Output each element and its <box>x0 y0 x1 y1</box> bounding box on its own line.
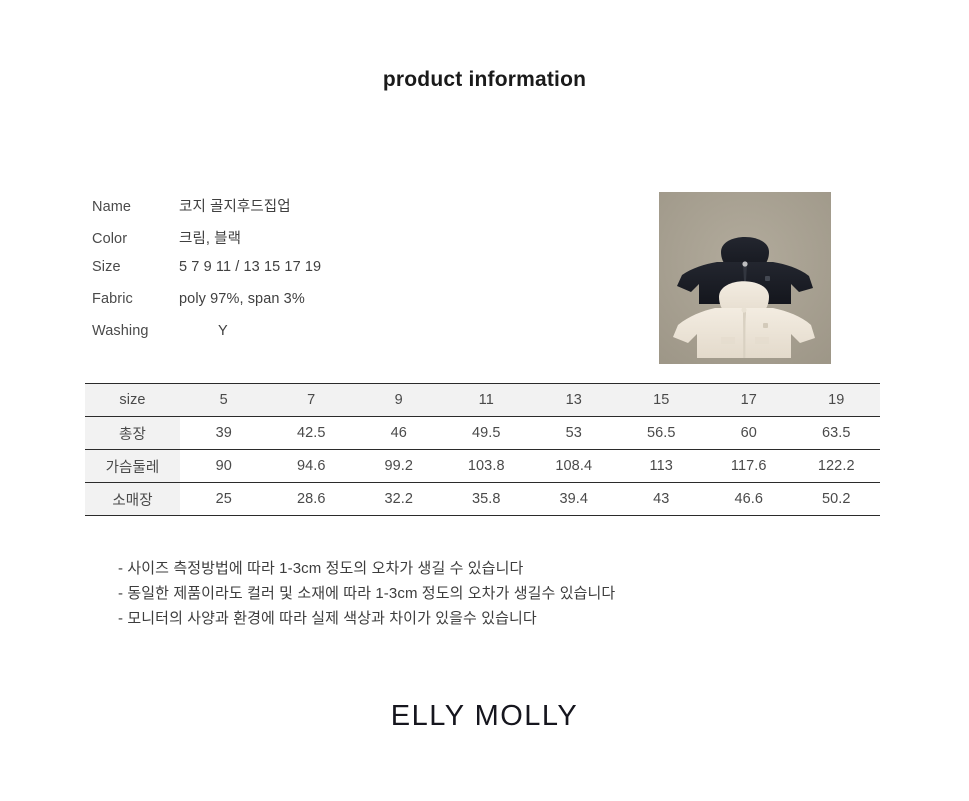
table-cell: 103.8 <box>443 450 531 483</box>
spec-row-color: Color 크림, 블랙 <box>92 227 512 259</box>
table-cell: 50.2 <box>793 483 881 516</box>
table-cell: 90 <box>180 450 268 483</box>
table-cell: 32.2 <box>355 483 443 516</box>
product-spec-list: Name 코지 골지후드집업 Color 크림, 블랙 Size 5 7 9 1… <box>92 195 512 355</box>
page-title: product information <box>0 68 969 92</box>
table-row-label: 총장 <box>85 417 180 450</box>
table-header-cell: 11 <box>443 384 531 417</box>
product-photo <box>659 192 831 364</box>
notes-list: - 사이즈 측정방법에 따라 1-3cm 정도의 오차가 생길 수 있습니다 -… <box>118 556 858 631</box>
table-cell: 39 <box>180 417 268 450</box>
spec-value-color: 크림, 블랙 <box>179 227 241 248</box>
note-line: - 사이즈 측정방법에 따라 1-3cm 정도의 오차가 생길 수 있습니다 <box>118 556 858 581</box>
table-cell: 53 <box>530 417 618 450</box>
table-cell: 43 <box>618 483 706 516</box>
table-header-cell: 19 <box>793 384 881 417</box>
spec-value-size: 5 7 9 11 / 13 15 17 19 <box>179 259 321 275</box>
table-row: 가슴둘레 90 94.6 99.2 103.8 108.4 113 117.6 … <box>85 450 880 483</box>
table-header-cell: 17 <box>705 384 793 417</box>
spec-value-name: 코지 골지후드집업 <box>179 195 291 216</box>
spec-row-name: Name 코지 골지후드집업 <box>92 195 512 227</box>
table-cell: 56.5 <box>618 417 706 450</box>
note-line: - 동일한 제품이라도 컬러 및 소재에 따라 1-3cm 정도의 오차가 생길… <box>118 581 858 606</box>
table-cell: 60 <box>705 417 793 450</box>
table-cell: 46 <box>355 417 443 450</box>
spec-row-fabric: Fabric poly 97%, span 3% <box>92 291 512 323</box>
table-cell: 35.8 <box>443 483 531 516</box>
table-header-cell: 13 <box>530 384 618 417</box>
spec-label-size: Size <box>92 259 179 275</box>
spec-value-fabric: poly 97%, span 3% <box>179 291 305 307</box>
table-header-cell: 9 <box>355 384 443 417</box>
table-cell: 117.6 <box>705 450 793 483</box>
table-header-cell: 15 <box>618 384 706 417</box>
table-cell: 49.5 <box>443 417 531 450</box>
product-photo-illustration <box>659 192 831 364</box>
table-cell: 25 <box>180 483 268 516</box>
size-table-container: size 5 7 9 11 13 15 17 19 총장 39 42.5 46 … <box>85 383 880 516</box>
table-cell: 113 <box>618 450 706 483</box>
brand-name: ELLY MOLLY <box>0 700 969 733</box>
table-header-row: size 5 7 9 11 13 15 17 19 <box>85 384 880 417</box>
spec-label-fabric: Fabric <box>92 291 179 307</box>
table-cell: 94.6 <box>268 450 356 483</box>
spec-label-color: Color <box>92 231 179 247</box>
spec-value-washing: Y <box>179 323 228 339</box>
table-row-label: 가슴둘레 <box>85 450 180 483</box>
table-cell: 122.2 <box>793 450 881 483</box>
table-header-cell: 7 <box>268 384 356 417</box>
table-cell: 28.6 <box>268 483 356 516</box>
spec-row-size: Size 5 7 9 11 / 13 15 17 19 <box>92 259 512 291</box>
size-table: size 5 7 9 11 13 15 17 19 총장 39 42.5 46 … <box>85 383 880 516</box>
note-line: - 모니터의 사양과 환경에 따라 실제 색상과 차이가 있을수 있습니다 <box>118 606 858 631</box>
spec-label-name: Name <box>92 199 179 215</box>
table-row: 소매장 25 28.6 32.2 35.8 39.4 43 46.6 50.2 <box>85 483 880 516</box>
table-header-cell: 5 <box>180 384 268 417</box>
table-cell: 42.5 <box>268 417 356 450</box>
table-row-label: 소매장 <box>85 483 180 516</box>
spec-label-washing: Washing <box>92 323 179 339</box>
table-cell: 39.4 <box>530 483 618 516</box>
table-cell: 108.4 <box>530 450 618 483</box>
table-cell: 46.6 <box>705 483 793 516</box>
spec-row-washing: Washing Y <box>92 323 512 355</box>
table-cell: 63.5 <box>793 417 881 450</box>
table-cell: 99.2 <box>355 450 443 483</box>
table-row: 총장 39 42.5 46 49.5 53 56.5 60 63.5 <box>85 417 880 450</box>
table-header-cell: size <box>85 384 180 417</box>
